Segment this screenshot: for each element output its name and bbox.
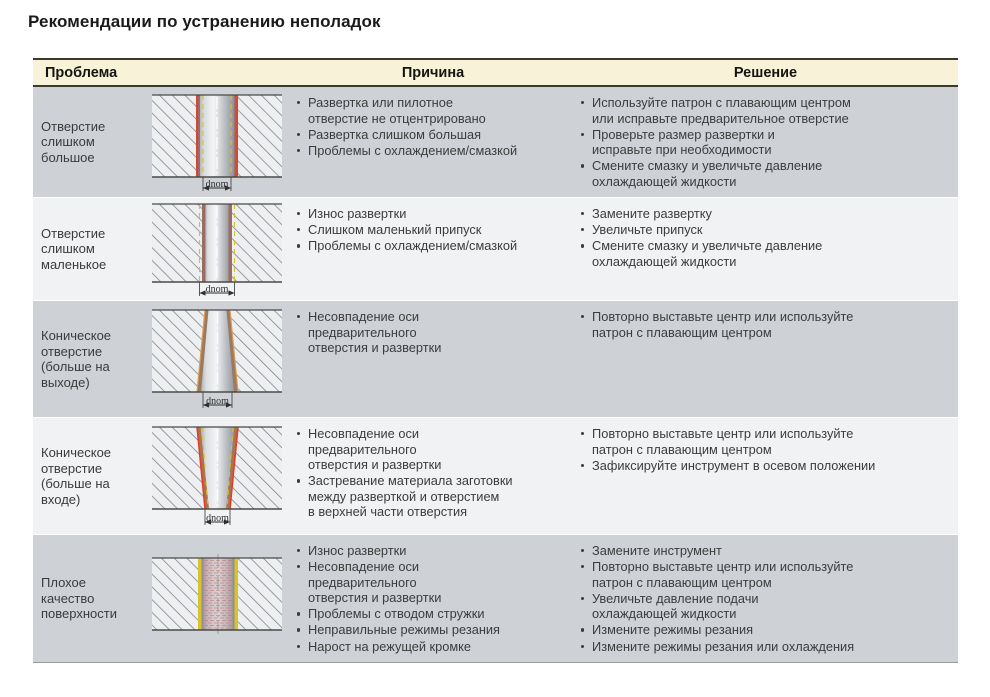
cell-problem: Отверстиеслишкоммаленькое [33,198,293,300]
dimension-label: dnom [206,513,229,524]
diagram-poor-surface-finish [142,552,290,648]
list-item: Смените смазку и увеличьте давлениеохлаж… [579,238,952,269]
cell-problem: Коническоеотверстие(больше навходе) [33,418,293,534]
problem-label: Отверстиеслишкомбольшое [33,119,138,166]
list-item: Замените инструмент [579,543,952,559]
column-header-problem: Проблема [33,60,293,85]
figure-hole-too-large: dnom [138,89,293,195]
page-title: Рекомендации по устранению неполадок [28,12,381,32]
solution-list: Замените инструментПовторно выставьте це… [579,543,952,654]
cell-cause: Износ разверткиНесовпадение осипредварит… [293,535,573,662]
problem-label: Плохоекачествоповерхности [33,575,138,622]
list-item: Повторно выставьте центр или используйте… [579,309,952,340]
dimension-label: dnom [206,396,229,407]
list-item: Повторно выставьте центр или используйте… [579,559,952,590]
dimension-label: dnom [205,179,228,190]
list-item: Проблемы с отводом стружки [295,606,567,622]
list-item: Зафиксируйте инструмент в осевом положен… [579,458,952,474]
cell-solution: Повторно выставьте центр или используйте… [573,301,958,417]
solution-list: Повторно выставьте центр или используйте… [579,309,952,340]
troubleshooting-page: Рекомендации по устранению неполадок Про… [0,0,990,697]
solution-list: Замените разверткуУвеличьте припускСмени… [579,206,952,269]
cell-problem: Отверстиеслишкомбольшое [33,87,293,197]
table-header-row: Проблема Причина Решение [33,58,958,87]
list-item: Проверьте размер развертки иисправьте пр… [579,127,952,158]
column-header-solution: Решение [573,60,958,85]
figure-taper-wide-at-entry: dnom [138,421,293,531]
problem-label: Отверстиеслишкоммаленькое [33,226,138,273]
list-item: Измените режимы резания [579,622,952,638]
diagram-hole-too-large: dnom [142,91,290,195]
list-item: Развертка или пилотноеотверстие не отцен… [295,95,567,126]
diagram-hole-too-small: dnom [142,200,290,300]
table-row: Плохоекачествоповерхности [33,534,958,662]
diagram-taper-wide-at-exit: dnom [142,306,290,414]
list-item: Несовпадение осипредварительногоотверсти… [295,309,567,356]
cause-list: Несовпадение осипредварительногоотверсти… [295,426,567,520]
cell-solution: Используйте патрон с плавающим центромил… [573,87,958,197]
dimension-label: dnom [205,284,228,295]
list-item: Используйте патрон с плавающим центромил… [579,95,952,126]
cell-cause: Развертка или пилотноеотверстие не отцен… [293,87,573,197]
cell-problem: Плохоекачествоповерхности [33,535,293,662]
list-item: Износ развертки [295,543,567,559]
cause-list: Развертка или пилотноеотверстие не отцен… [295,95,567,158]
cause-list: Износ разверткиНесовпадение осипредварит… [295,543,567,654]
cell-cause: Несовпадение осипредварительногоотверсти… [293,301,573,417]
cell-cause: Несовпадение осипредварительногоотверсти… [293,418,573,534]
figure-poor-surface-finish [138,550,293,648]
diagram-taper-wide-at-entry: dnom [142,423,290,531]
solution-list: Используйте патрон с плавающим центромил… [579,95,952,190]
list-item: Развертка слишком большая [295,127,567,143]
figure-taper-wide-at-exit: dnom [138,304,293,414]
table-row: Отверстиеслишкоммаленькое [33,197,958,300]
cell-problem: Коническоеотверстие(больше навыходе) [33,301,293,417]
column-header-cause: Причина [293,60,573,85]
list-item: Слишком маленький припуск [295,222,567,238]
cell-solution: Замените инструментПовторно выставьте це… [573,535,958,662]
list-item: Замените развертку [579,206,952,222]
list-item: Проблемы с охлаждением/смазкой [295,238,567,254]
troubleshooting-table: Проблема Причина Решение Отверстиеслишко… [33,58,958,663]
table-row: Коническоеотверстие(больше навходе) [33,417,958,534]
figure-hole-too-small: dnom [138,198,293,300]
list-item: Застревание материала заготовкимежду раз… [295,473,567,520]
list-item: Несовпадение осипредварительногоотверсти… [295,426,567,473]
list-item: Увеличьте давление подачиохлаждающей жид… [579,591,952,622]
problem-label: Коническоеотверстие(больше навыходе) [33,328,138,390]
list-item: Проблемы с охлаждением/смазкой [295,143,567,159]
list-item: Измените режимы резания или охлаждения [579,639,952,655]
table-row: Отверстиеслишкомбольшое [33,87,958,197]
list-item: Износ развертки [295,206,567,222]
problem-label: Коническоеотверстие(больше навходе) [33,445,138,507]
cause-list: Износ разверткиСлишком маленький припуск… [295,206,567,254]
cell-solution: Повторно выставьте центр или используйте… [573,418,958,534]
cause-list: Несовпадение осипредварительногоотверсти… [295,309,567,356]
list-item: Увеличьте припуск [579,222,952,238]
list-item: Неправильные режимы резания [295,622,567,638]
cell-solution: Замените разверткуУвеличьте припускСмени… [573,198,958,300]
list-item: Несовпадение осипредварительногоотверсти… [295,559,567,606]
list-item: Смените смазку и увеличьте давлениеохлаж… [579,158,952,189]
cell-cause: Износ разверткиСлишком маленький припуск… [293,198,573,300]
table-row: Коническоеотверстие(больше навыходе) [33,300,958,417]
list-item: Нарост на режущей кромке [295,639,567,655]
solution-list: Повторно выставьте центр или используйте… [579,426,952,473]
list-item: Повторно выставьте центр или используйте… [579,426,952,457]
table-body: Отверстиеслишкомбольшое [33,87,958,663]
